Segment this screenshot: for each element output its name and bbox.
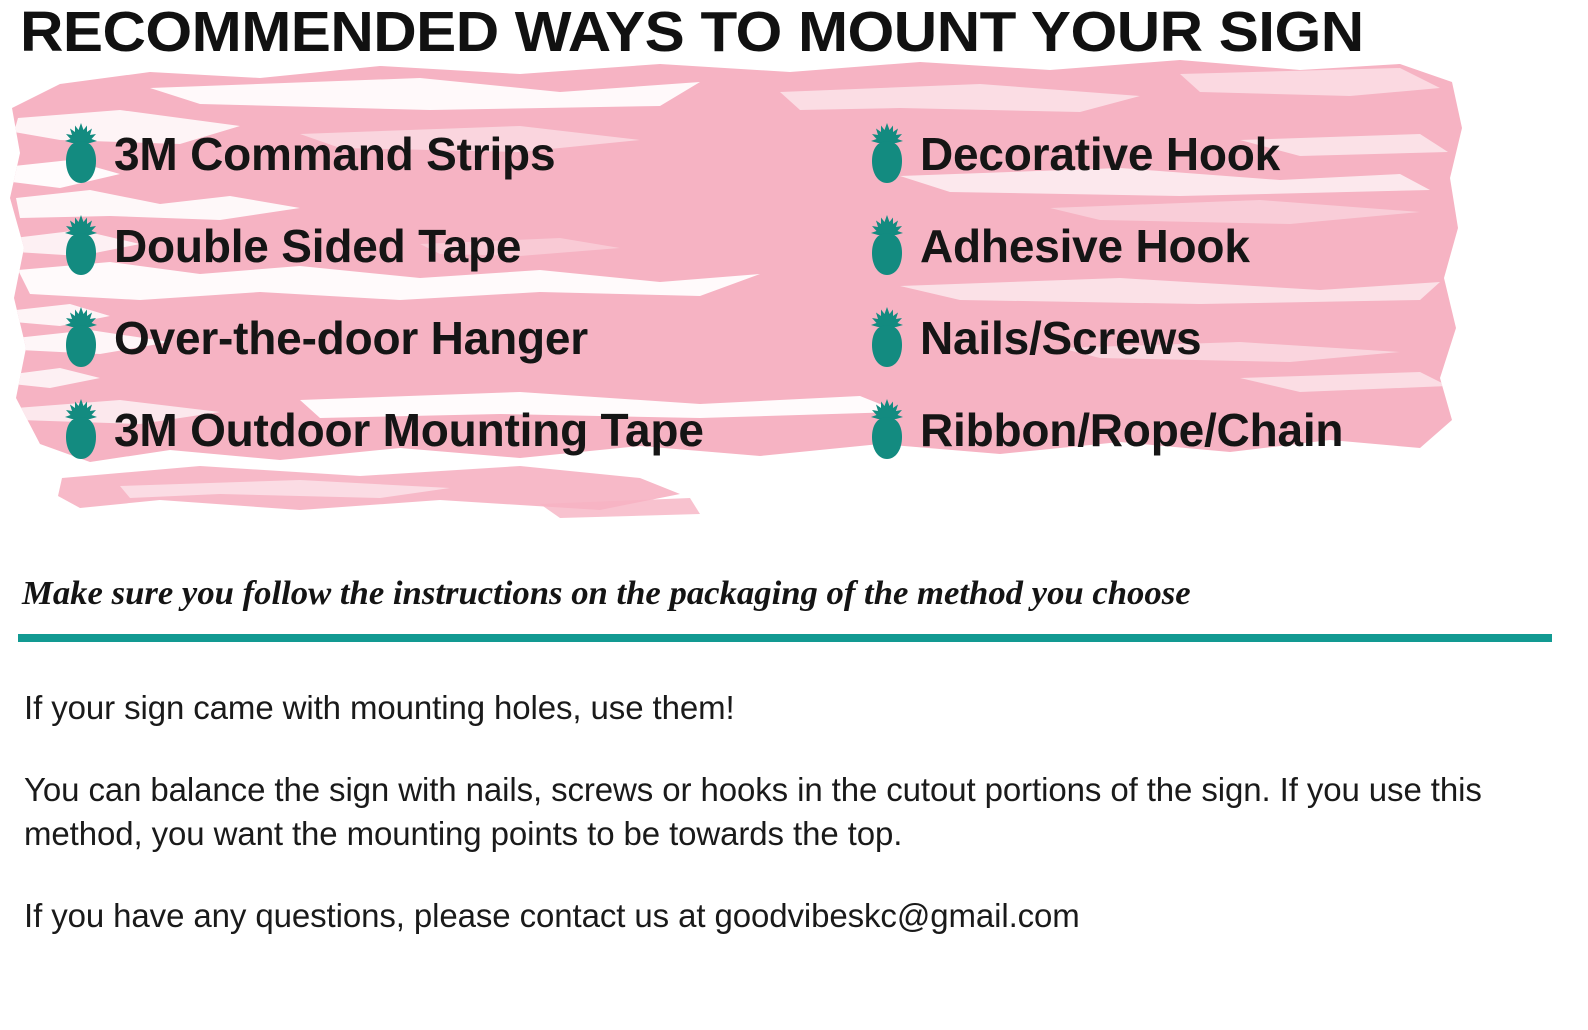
list-item-label: 3M Command Strips bbox=[114, 129, 555, 179]
page-title: RECOMMENDED WAYS TO MOUNT YOUR SIGN bbox=[20, 2, 1588, 64]
body-copy: If your sign came with mounting holes, u… bbox=[24, 686, 1534, 938]
paragraph-contact: If you have any questions, please contac… bbox=[24, 894, 1534, 938]
list-item: Nails/Screws bbox=[868, 292, 1528, 384]
list-item-label: Adhesive Hook bbox=[920, 221, 1250, 271]
pineapple-icon bbox=[62, 215, 100, 277]
mounting-methods-left-column: 3M Command Strips Double Sided Tape bbox=[62, 108, 852, 476]
pineapple-icon bbox=[868, 215, 906, 277]
list-item: 3M Outdoor Mounting Tape bbox=[62, 384, 852, 476]
teal-divider bbox=[18, 634, 1552, 642]
pineapple-icon bbox=[868, 123, 906, 185]
pineapple-icon bbox=[868, 399, 906, 461]
list-item-label: Double Sided Tape bbox=[114, 221, 521, 271]
pineapple-icon bbox=[62, 399, 100, 461]
paragraph-balance-sign: You can balance the sign with nails, scr… bbox=[24, 768, 1514, 856]
pineapple-icon bbox=[868, 307, 906, 369]
mounting-methods-list: 3M Command Strips Double Sided Tape bbox=[0, 108, 1588, 478]
mounting-instructions-poster: RECOMMENDED WAYS TO MOUNT YOUR SIGN 3M C… bbox=[0, 0, 1588, 1030]
pineapple-icon bbox=[62, 307, 100, 369]
list-item-label: Over-the-door Hanger bbox=[114, 313, 588, 363]
list-item-label: 3M Outdoor Mounting Tape bbox=[114, 405, 704, 455]
pineapple-icon bbox=[62, 123, 100, 185]
list-item-label: Nails/Screws bbox=[920, 313, 1201, 363]
packaging-instructions-note: Make sure you follow the instructions on… bbox=[22, 572, 1588, 616]
list-item: Ribbon/Rope/Chain bbox=[868, 384, 1528, 476]
list-item: Over-the-door Hanger bbox=[62, 292, 852, 384]
paragraph-mounting-holes: If your sign came with mounting holes, u… bbox=[24, 686, 1534, 730]
list-item: Decorative Hook bbox=[868, 108, 1528, 200]
list-item-label: Decorative Hook bbox=[920, 129, 1280, 179]
list-item: 3M Command Strips bbox=[62, 108, 852, 200]
list-item-label: Ribbon/Rope/Chain bbox=[920, 405, 1343, 455]
mounting-methods-right-column: Decorative Hook Adhesive Hook bbox=[868, 108, 1528, 476]
list-item: Adhesive Hook bbox=[868, 200, 1528, 292]
list-item: Double Sided Tape bbox=[62, 200, 852, 292]
